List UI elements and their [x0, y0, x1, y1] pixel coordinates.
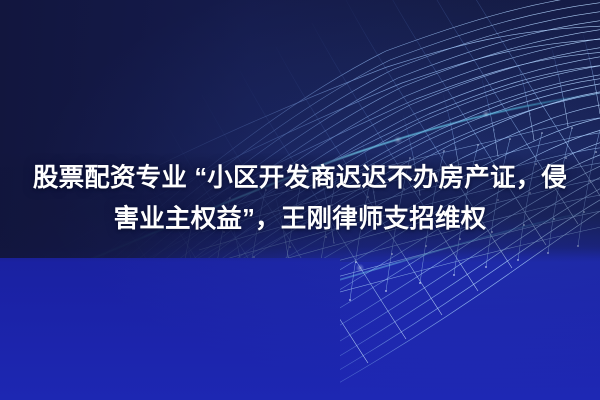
page-title: 股票配资专业 “小区开发商迟迟不办房产证，侵 害业主权益”，王刚律师支招维权 [0, 158, 600, 240]
banner-image: 股票配资专业 “小区开发商迟迟不办房产证，侵 害业主权益”，王刚律师支招维权 [0, 0, 600, 400]
background-lower-left-block [0, 258, 340, 400]
headline-line-2: 害业主权益”，王刚律师支招维权 [18, 199, 582, 240]
headline-line-1: 股票配资专业 “小区开发商迟迟不办房产证，侵 [18, 158, 582, 199]
